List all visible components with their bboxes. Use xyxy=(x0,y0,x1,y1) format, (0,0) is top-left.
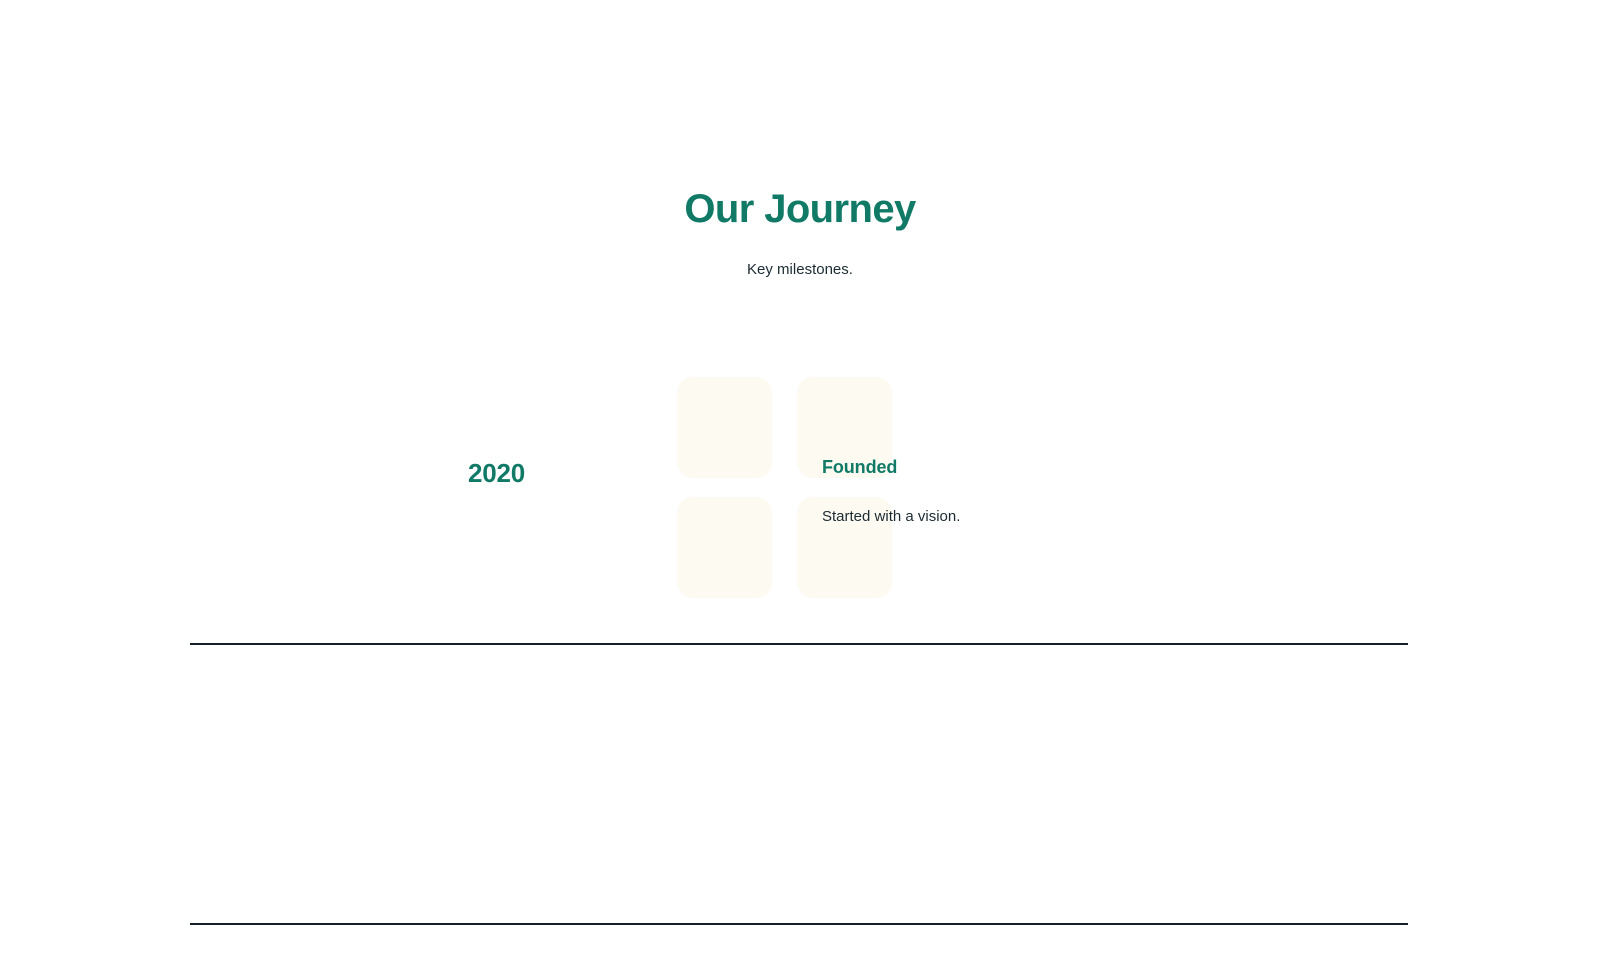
section-header: Our Journey Key milestones. xyxy=(0,186,1600,281)
timeline-row: 2021 First 1,000 Users First milestone. xyxy=(190,645,1408,925)
milestone-title: Founded xyxy=(822,457,1408,479)
timeline-year-column: 2020 xyxy=(190,375,535,487)
timeline-row: 2020 Founded Started with a vision. xyxy=(190,375,1408,645)
page-subtitle: Key milestones. xyxy=(0,259,1600,281)
our-journey-page: Our Journey Key milestones. 2020 Founded… xyxy=(0,0,1600,978)
timeline-content-column: First 1,000 Users First milestone. xyxy=(535,645,1408,978)
timeline: 2020 Founded Started with a vision. 2021… xyxy=(190,375,1408,925)
page-title: Our Journey xyxy=(0,186,1600,232)
timeline-content-column: Founded Started with a vision. xyxy=(535,375,1408,527)
milestone-description: Started with a vision. xyxy=(822,506,1408,528)
timeline-year-label: 2020 xyxy=(468,458,525,488)
timeline-year-column: 2021 xyxy=(190,645,535,978)
